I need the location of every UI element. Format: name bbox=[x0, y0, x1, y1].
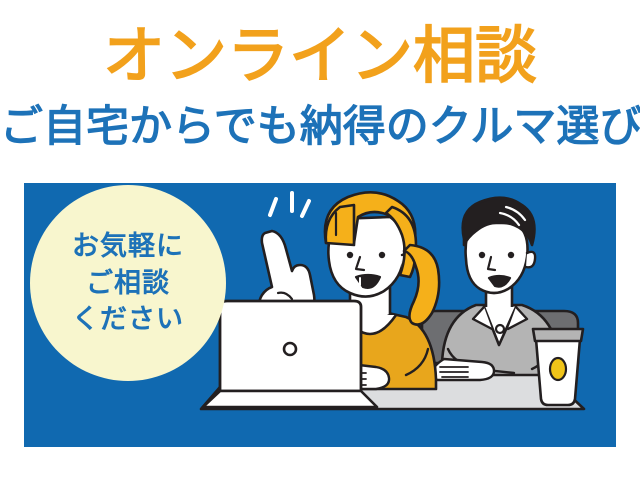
online-consultation-banner: オンライン相談 ご自宅からでも納得のクルマ選びを bbox=[0, 0, 640, 480]
page-subtitle: ご自宅からでも納得のクルマ選びを bbox=[0, 106, 640, 149]
banner-heading-block: オンライン相談 ご自宅からでも納得のクルマ選びを bbox=[0, 0, 640, 175]
illustration-panel: お気軽に ご相談 ください bbox=[24, 183, 616, 447]
sparkle-icon bbox=[270, 193, 309, 216]
status-badge: お気軽に ご相談 ください bbox=[30, 185, 226, 381]
badge-line-3: ください bbox=[72, 301, 184, 337]
badge-line-2: ご相談 bbox=[86, 265, 170, 301]
coffee-cup-icon bbox=[533, 329, 583, 405]
laptop-icon bbox=[203, 301, 377, 407]
badge-line-1: お気軽に bbox=[72, 228, 184, 264]
page-title: オンライン相談 bbox=[0, 26, 640, 88]
